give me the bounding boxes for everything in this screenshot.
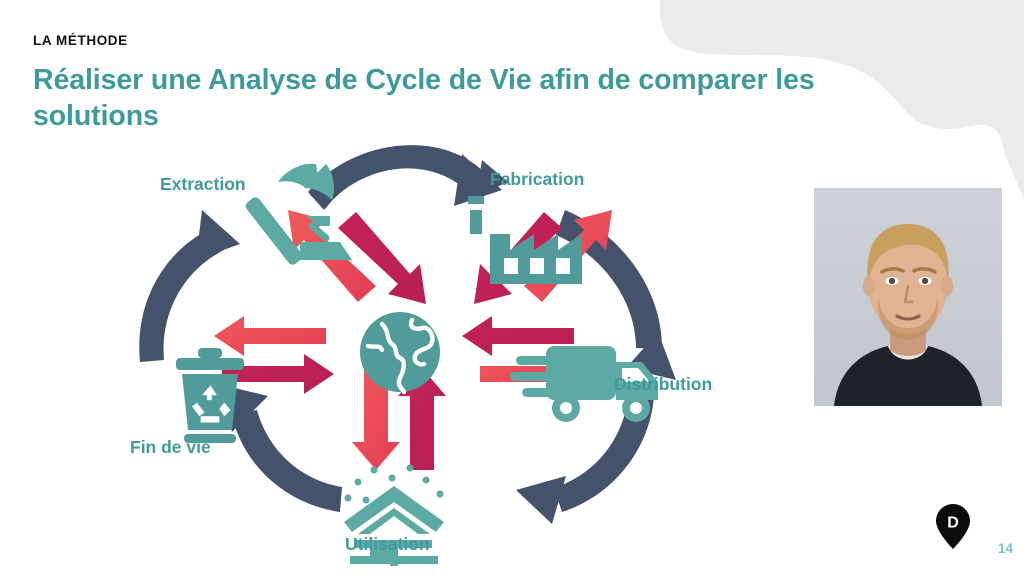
arrow-outbound-left bbox=[214, 316, 326, 356]
slide-eyebrow: LA MÉTHODE bbox=[33, 33, 128, 48]
lca-diagram: Extraction Fabrication Distribution Util… bbox=[110, 140, 790, 570]
stage-label-fabrication: Fabrication bbox=[490, 169, 584, 190]
globe-icon bbox=[360, 312, 440, 392]
stage-label-extraction: Extraction bbox=[160, 174, 246, 195]
presenter-webcam-video[interactable] bbox=[814, 188, 1002, 406]
stage-label-distribution: Distribution bbox=[614, 374, 712, 395]
stage-label-fin-de-vie: Fin de vie bbox=[130, 437, 211, 458]
brand-logo-pin-icon: D bbox=[936, 504, 970, 549]
logo-letter: D bbox=[947, 515, 959, 532]
page-number: 14 bbox=[998, 541, 1013, 556]
stage-label-utilisation: Utilisation bbox=[345, 534, 430, 555]
page-title: Réaliser une Analyse de Cycle de Vie afi… bbox=[33, 62, 873, 135]
